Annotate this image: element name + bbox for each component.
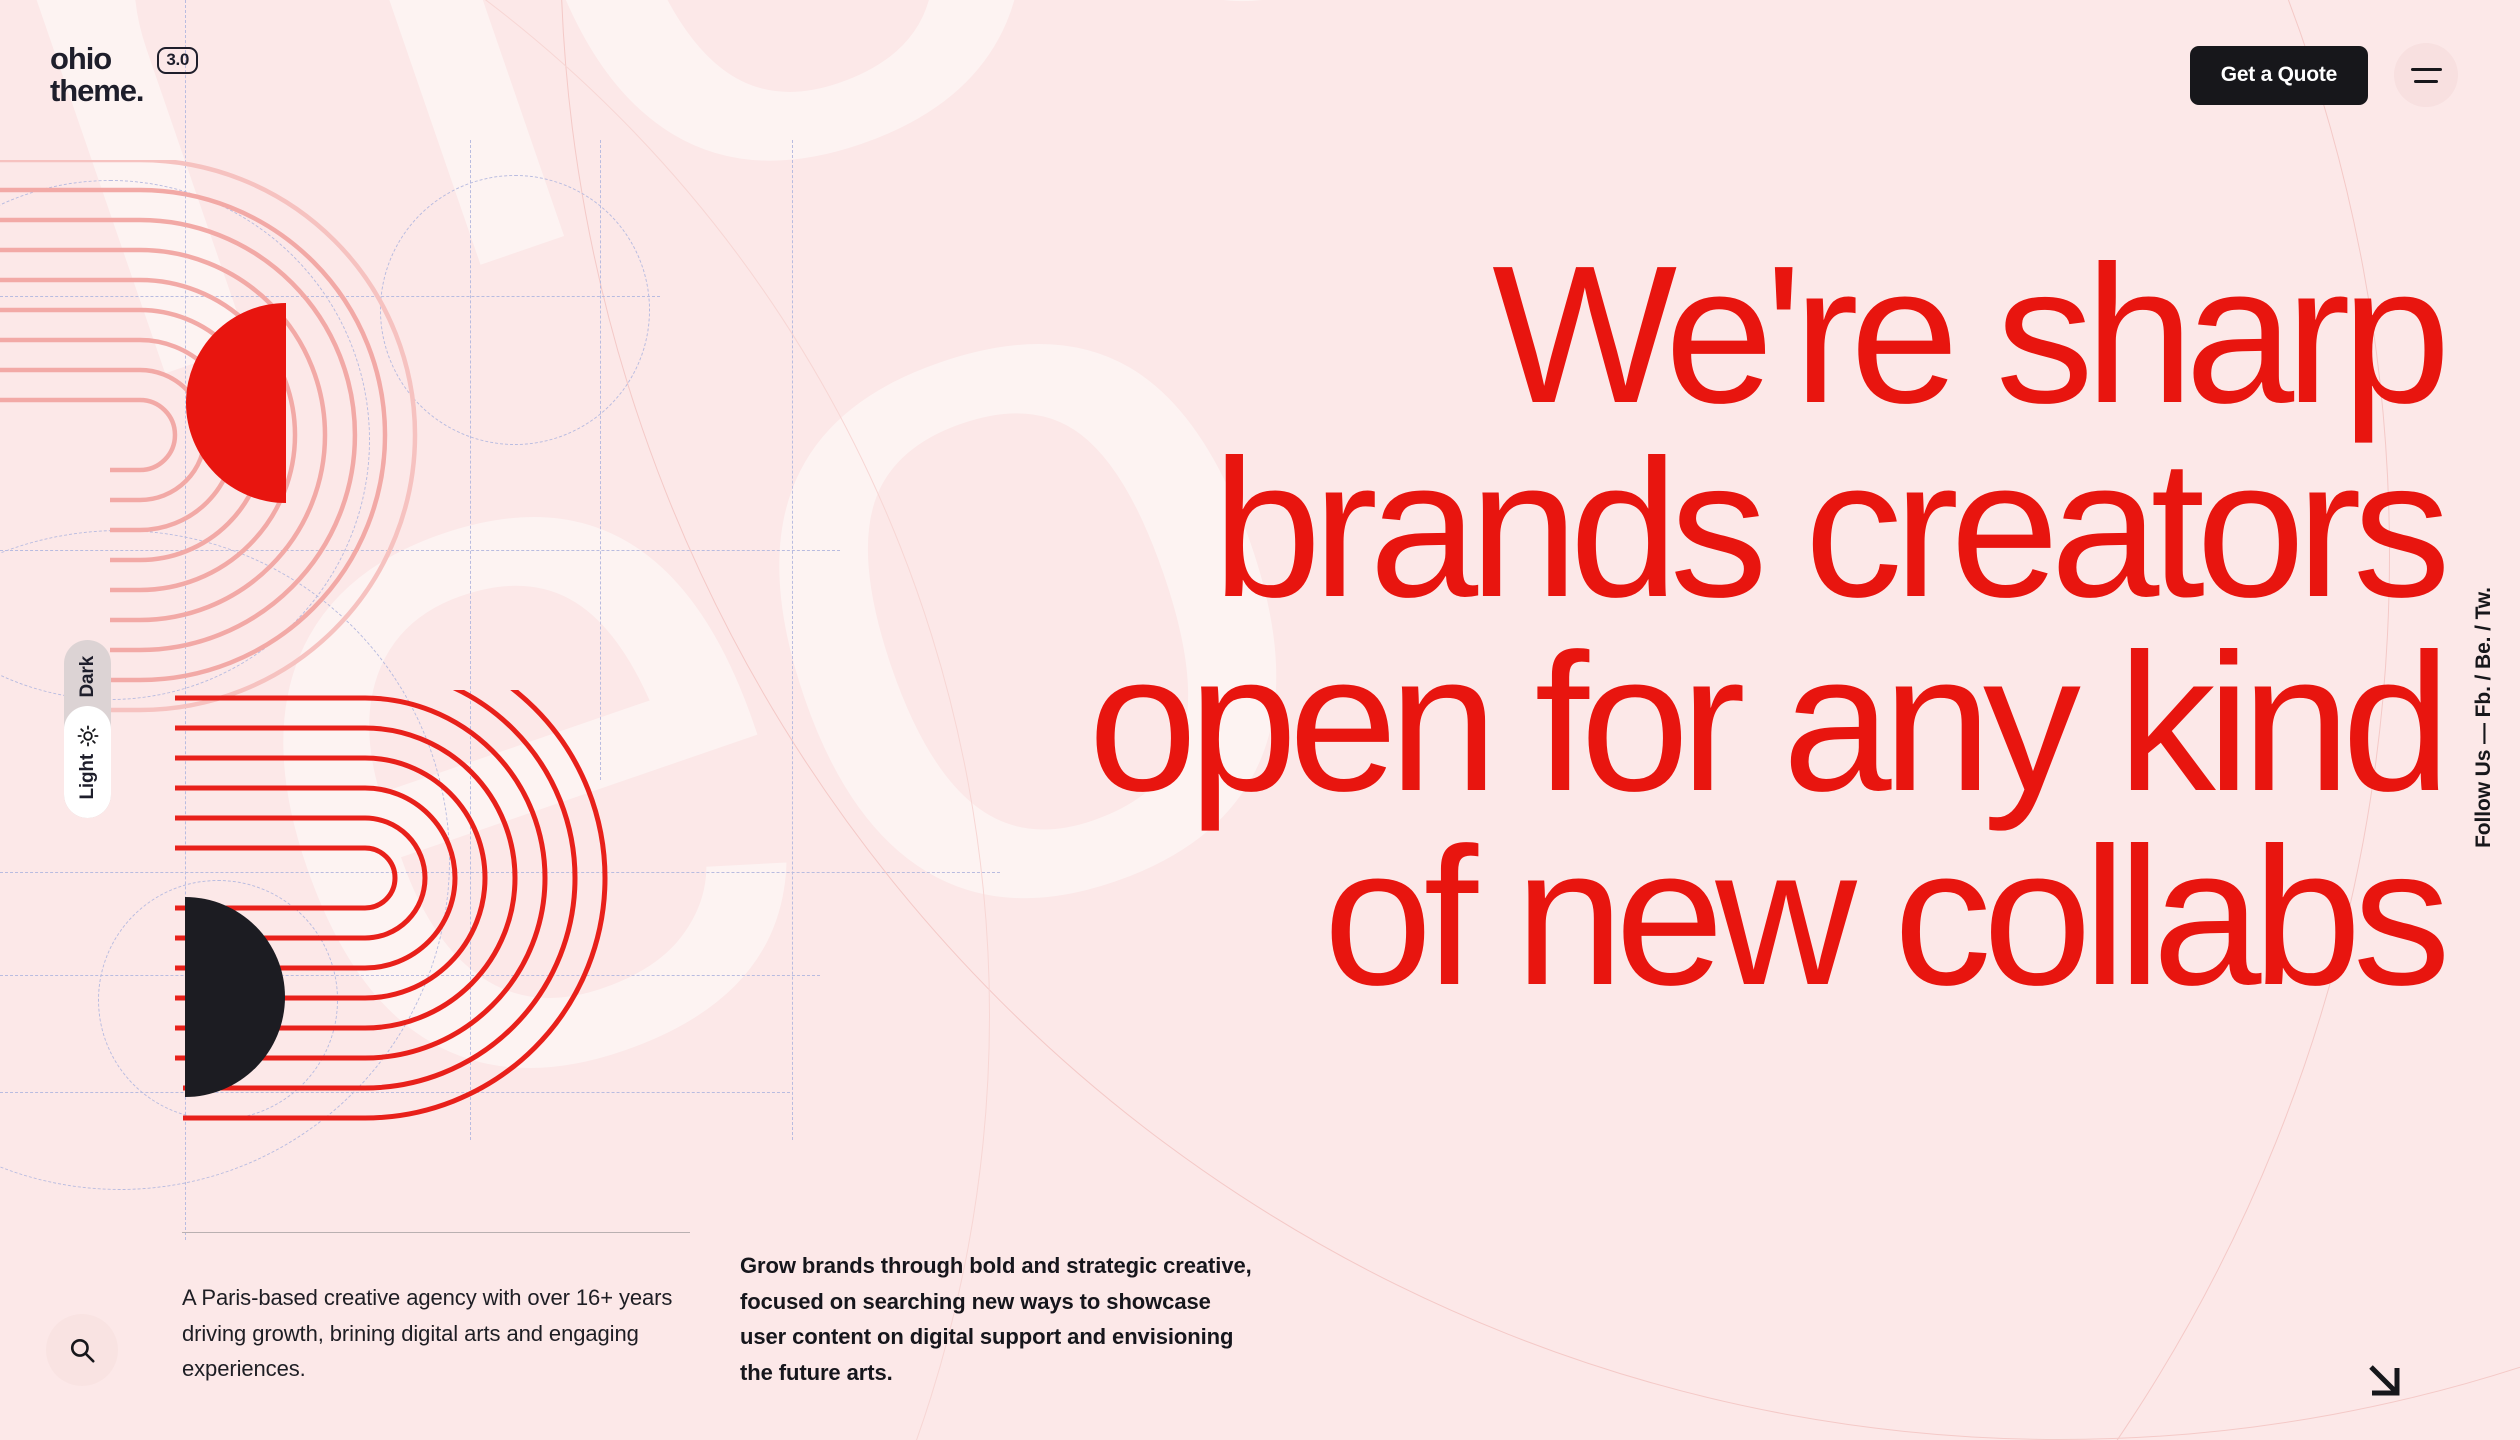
- theme-toggle-light-label: Light: [77, 754, 99, 799]
- about-paragraph: A Paris-based creative agency with over …: [182, 1280, 682, 1387]
- hero-line: of new collabs: [802, 820, 2442, 1014]
- guide-line-vertical: [185, 0, 186, 1240]
- logo-version-badge: 3.0: [157, 47, 198, 74]
- guide-circle: [380, 175, 650, 445]
- pitch-paragraph: Grow brands through bold and strategic c…: [740, 1248, 1260, 1391]
- hamburger-menu-icon[interactable]: [2394, 43, 2458, 107]
- guide-line-horizontal: [0, 975, 820, 976]
- hero-line: brands creators: [802, 432, 2442, 626]
- search-icon: [67, 1335, 97, 1365]
- guide-line-horizontal: [0, 550, 840, 551]
- guide-line-vertical: [470, 140, 471, 1140]
- theme-toggle-knob-light[interactable]: Light: [64, 706, 111, 818]
- hero-headline: We're sharp brands creators open for any…: [802, 238, 2442, 1014]
- theme-toggle[interactable]: Dark Light: [64, 640, 111, 818]
- logo[interactable]: ohio theme. 3.0: [50, 43, 198, 106]
- logo-wordmark: ohio theme.: [50, 43, 143, 106]
- theme-toggle-dark-label[interactable]: Dark: [77, 656, 99, 698]
- guide-line-horizontal: [0, 296, 660, 297]
- pitch-column: Grow brands through bold and strategic c…: [740, 1248, 1260, 1391]
- follow-us-rail: Follow Us — Fb. / Be. / Tw.: [2472, 587, 2496, 853]
- sun-icon: [77, 725, 99, 747]
- hero-line: We're sharp: [802, 238, 2442, 432]
- follow-us-links[interactable]: Follow Us — Fb. / Be. / Tw.: [2472, 587, 2496, 848]
- red-half-circle: [186, 303, 286, 503]
- scroll-down-button[interactable]: [2362, 1358, 2408, 1404]
- guide-circle: [0, 180, 370, 700]
- arrow-down-right-icon: [2362, 1358, 2408, 1404]
- guide-circle: [98, 880, 338, 1120]
- guide-line-vertical: [792, 140, 793, 1140]
- guide-circle: [0, 530, 450, 1190]
- search-button[interactable]: [46, 1314, 118, 1386]
- header-actions: Get a Quote: [2190, 43, 2458, 107]
- hero-line: open for any kind: [802, 626, 2442, 820]
- site-header: ohio theme. 3.0 Get a Quote: [0, 0, 2520, 150]
- guide-line-vertical: [600, 140, 601, 780]
- hero-page: housr eo: [0, 0, 2520, 1440]
- guide-line-horizontal: [0, 1092, 790, 1093]
- about-divider: [182, 1232, 690, 1233]
- dark-half-circle: [185, 897, 285, 1097]
- get-a-quote-button[interactable]: Get a Quote: [2190, 46, 2368, 105]
- decorative-graphic-lower: [175, 690, 735, 1250]
- about-column: A Paris-based creative agency with over …: [182, 1280, 682, 1387]
